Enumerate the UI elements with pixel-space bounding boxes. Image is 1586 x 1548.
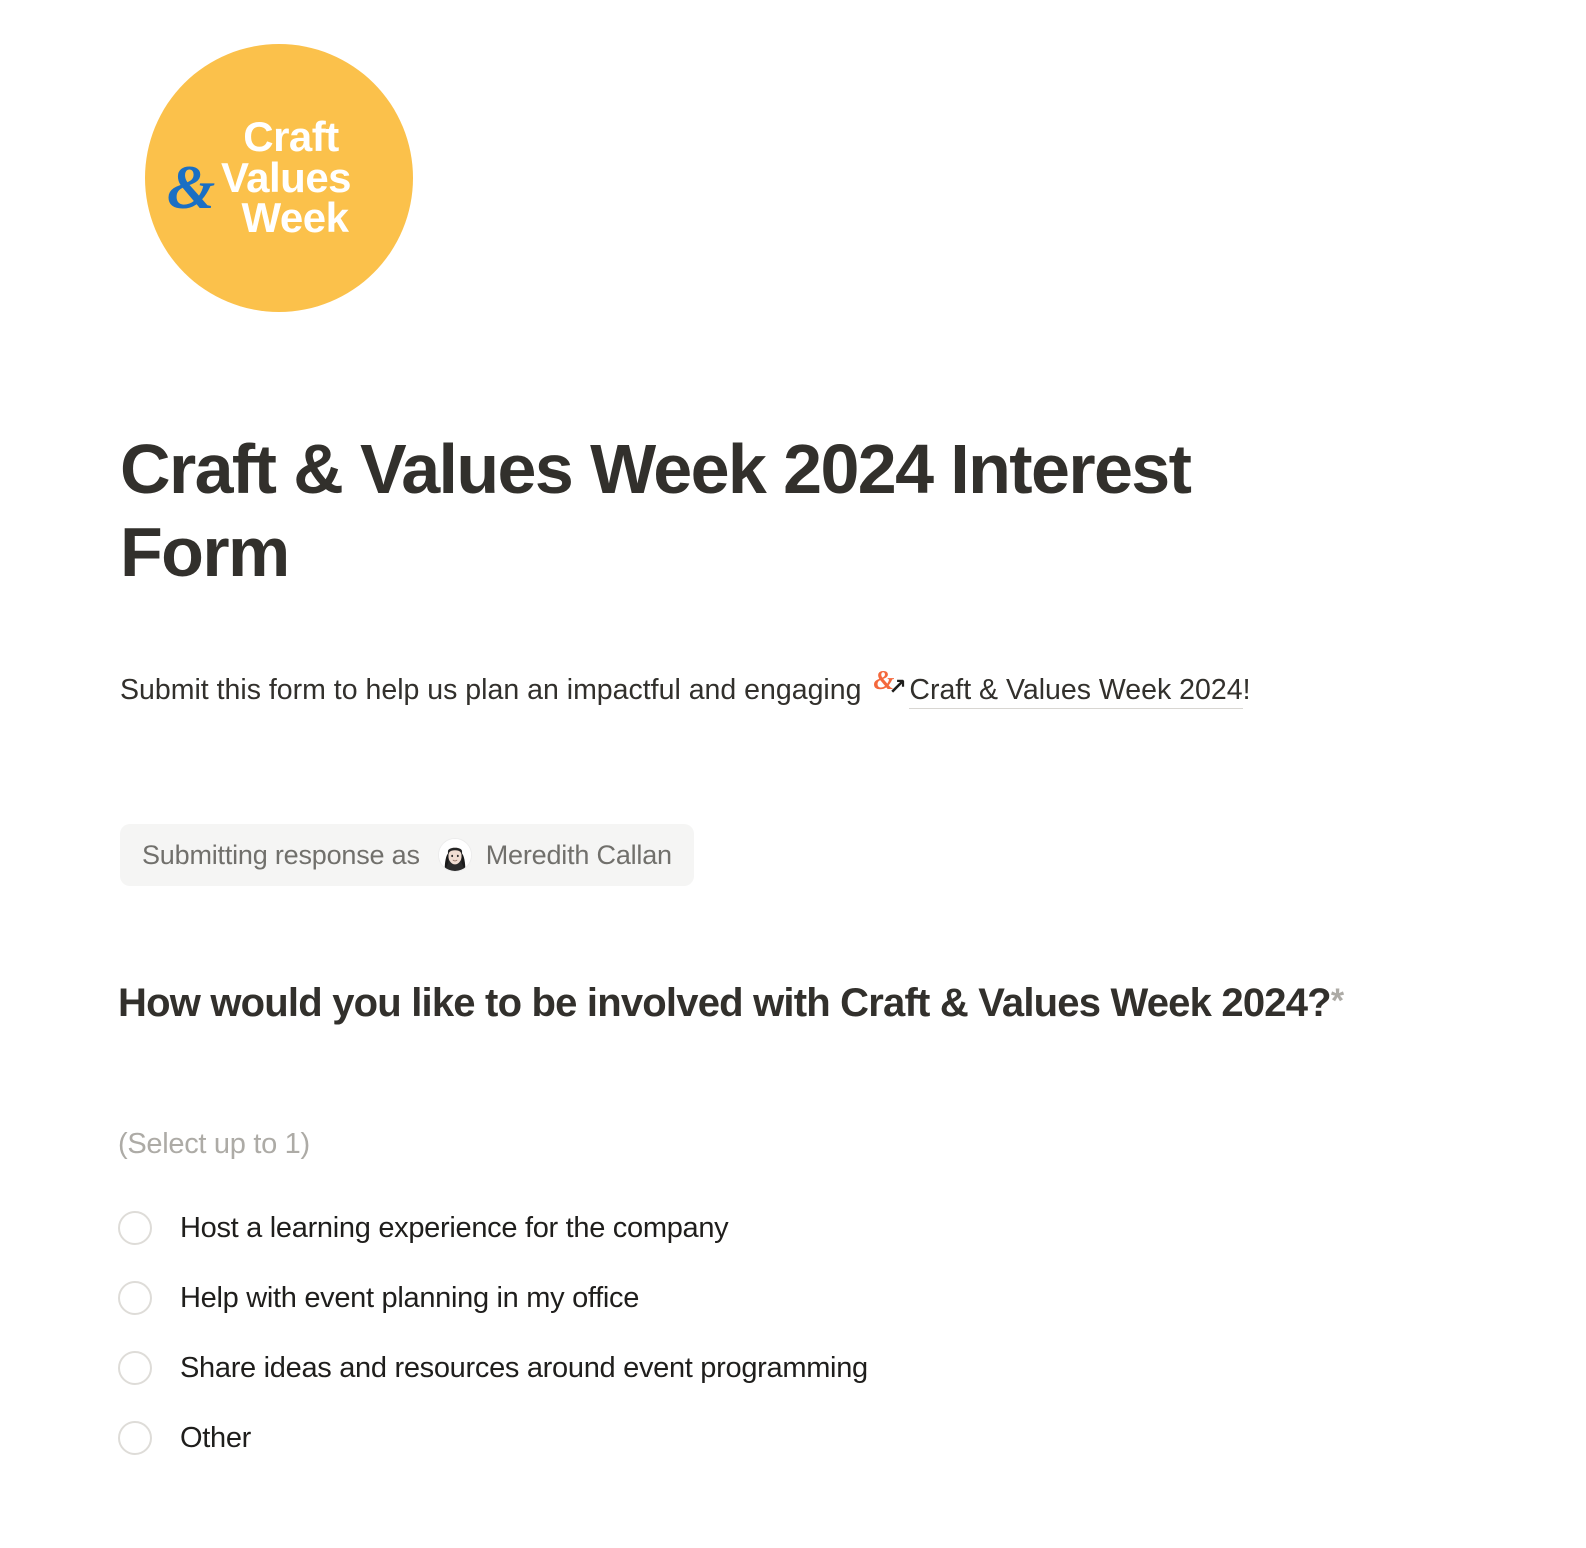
question-help-text: (Select up to 1) — [118, 1128, 310, 1161]
option-row-3[interactable]: Other — [118, 1418, 1318, 1458]
brand-logo: & Craft Values Week — [145, 44, 413, 312]
required-marker: * — [1331, 982, 1343, 1020]
option-row-1[interactable]: Help with event planning in my office — [118, 1278, 1318, 1318]
form-description: Submit this form to help us plan an impa… — [120, 664, 1360, 717]
submitting-response-as-chip: Submitting response as Meredith Callan — [120, 824, 694, 886]
craft-values-week-link[interactable]: Craft & Values Week 2024 — [909, 674, 1242, 709]
option-row-0[interactable]: Host a learning experience for the compa… — [118, 1208, 1318, 1248]
logo-line-week: Week — [161, 198, 413, 239]
option-row-2[interactable]: Share ideas and resources around event p… — [118, 1348, 1318, 1388]
option-label-3: Other — [180, 1424, 251, 1453]
option-label-0: Host a learning experience for the compa… — [180, 1214, 728, 1243]
logo-circle: & Craft Values Week — [145, 44, 413, 312]
logo-text: Craft Values Week — [145, 117, 413, 239]
avatar — [438, 838, 472, 872]
question-title: How would you like to be involved with C… — [118, 978, 1418, 1029]
submitting-user-name: Meredith Callan — [486, 840, 672, 871]
radio-icon-3[interactable] — [118, 1421, 152, 1455]
question-text: How would you like to be involved with C… — [118, 981, 1331, 1025]
external-link-icon: &↗ — [873, 676, 907, 702]
option-label-2: Share ideas and resources around event p… — [180, 1354, 868, 1383]
arrow-up-right-icon: ↗ — [888, 677, 906, 699]
form-page: & Craft Values Week Craft & Values Week … — [0, 0, 1586, 1548]
page-title: Craft & Values Week 2024 Interest Form — [120, 428, 1300, 593]
submitting-response-as-label: Submitting response as — [142, 840, 420, 871]
logo-line-craft: Craft — [161, 117, 413, 158]
form-description-suffix: ! — [1243, 674, 1251, 706]
radio-icon-0[interactable] — [118, 1211, 152, 1245]
radio-icon-1[interactable] — [118, 1281, 152, 1315]
logo-line-values: Values — [161, 158, 413, 199]
form-description-prefix: Submit this form to help us plan an impa… — [120, 674, 869, 706]
option-label-1: Help with event planning in my office — [180, 1284, 639, 1313]
options-list: Host a learning experience for the compa… — [118, 1208, 1318, 1458]
radio-icon-2[interactable] — [118, 1351, 152, 1385]
